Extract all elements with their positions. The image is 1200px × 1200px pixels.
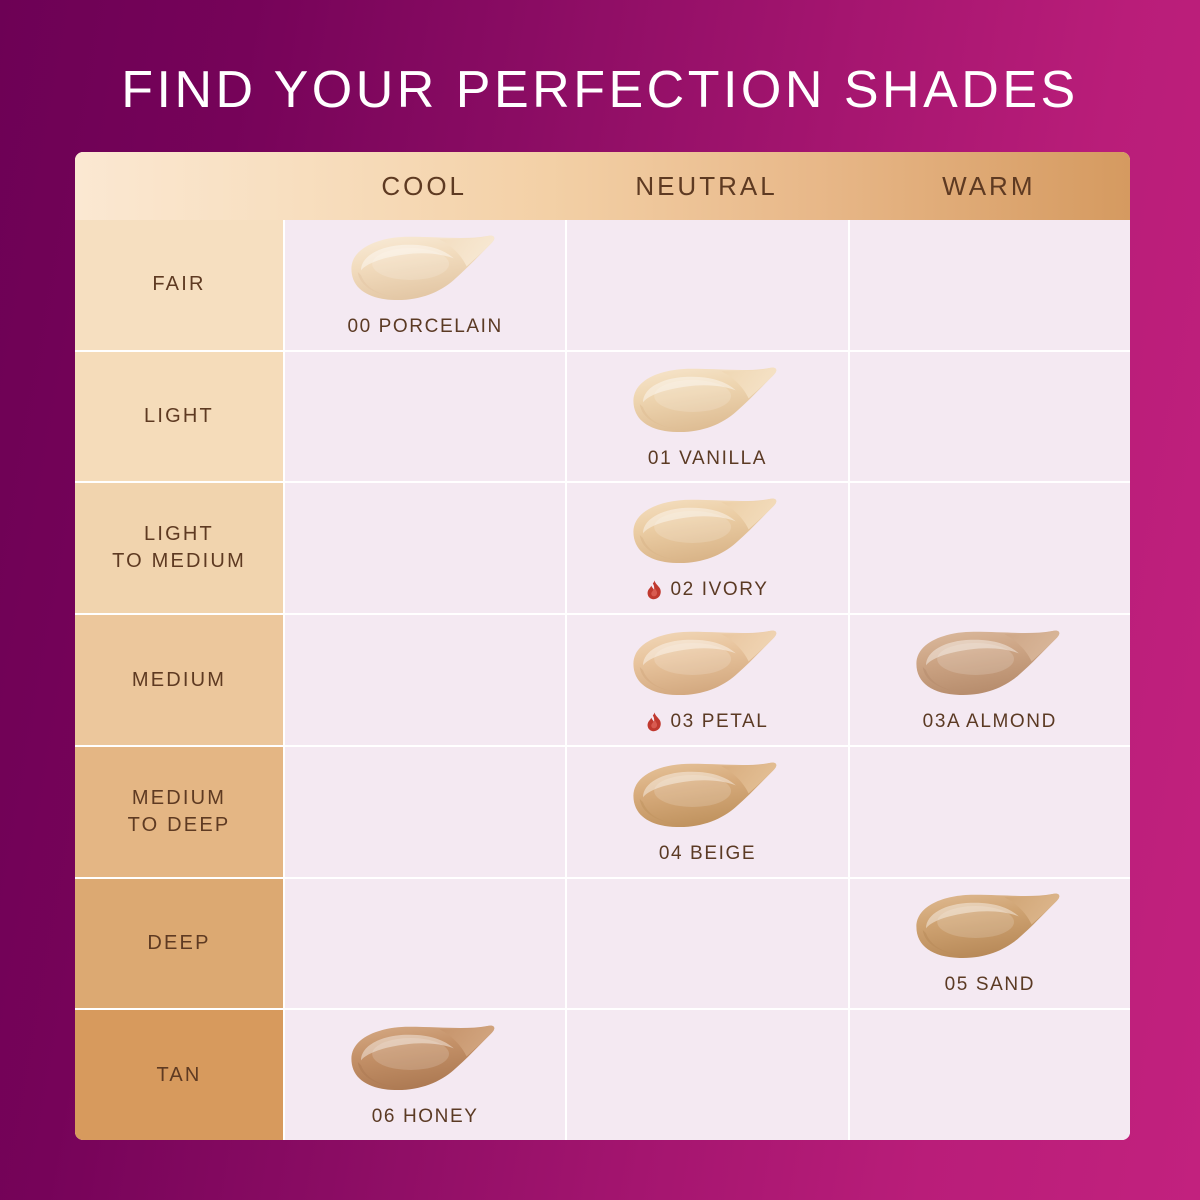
shade-name-label: 04 BEIGE [659, 843, 756, 865]
row-label-light: LIGHT [75, 352, 283, 482]
shade-name-label: 01 VANILLA [648, 448, 767, 470]
empty-cell-medium-cool [283, 615, 565, 745]
shade-name-text: 02 IVORY [670, 579, 768, 601]
shade-swatch-41 [627, 759, 787, 831]
shade-cell-03-petal[interactable]: 03 PETAL [565, 615, 847, 745]
table-row: FAIR 00 PORCELAIN [75, 220, 1130, 350]
shade-name-label: 05 SAND [945, 974, 1035, 996]
shade-swatch-32 [910, 627, 1070, 699]
swatch-group-04-beige: 04 BEIGE [627, 759, 787, 865]
row-label-deep: DEEP [75, 879, 283, 1009]
table-row: LIGHTTO MEDIUM 02 IVORY [75, 481, 1130, 613]
shade-name-label: 06 HONEY [372, 1106, 479, 1128]
flame-icon [646, 580, 663, 601]
shade-name-text: 01 VANILLA [648, 448, 767, 470]
empty-cell-light-to-medium-warm [848, 483, 1130, 613]
swatch-group-03a-almond: 03A ALMOND [910, 627, 1070, 733]
table-row: MEDIUMTO DEEP 04 BEIGE [75, 745, 1130, 877]
shade-cell-01-vanilla[interactable]: 01 VANILLA [565, 352, 847, 482]
empty-cell-light-to-medium-cool [283, 483, 565, 613]
swatch-group-05-sand: 05 SAND [910, 890, 1070, 996]
shade-name-label: 03 PETAL [646, 711, 768, 733]
empty-cell-medium-to-deep-warm [848, 747, 1130, 877]
shade-swatch-60 [345, 1022, 505, 1094]
empty-cell-deep-neutral [565, 879, 847, 1009]
empty-cell-medium-to-deep-cool [283, 747, 565, 877]
shade-cell-05-sand[interactable]: 05 SAND [848, 879, 1130, 1009]
row-cells: 02 IVORY [283, 483, 1130, 613]
swatch-group-03-petal: 03 PETAL [627, 627, 787, 733]
shade-cell-04-beige[interactable]: 04 BEIGE [565, 747, 847, 877]
shade-swatch-11 [627, 364, 787, 436]
row-cells: 03 PETAL 03A ALMOND [283, 615, 1130, 745]
shade-name-text: 00 PORCELAIN [347, 316, 502, 338]
shade-cell-00-porcelain[interactable]: 00 PORCELAIN [283, 220, 565, 350]
row-label-light-to-medium: LIGHTTO MEDIUM [75, 483, 283, 613]
row-cells: 01 VANILLA [283, 352, 1130, 482]
page-title: FIND YOUR PERFECTION SHADES [0, 60, 1200, 120]
shade-swatch-31 [627, 627, 787, 699]
swatch-group-02-ivory: 02 IVORY [627, 495, 787, 601]
table-body: FAIR 00 PORCELAINLIGHT [75, 220, 1130, 1140]
row-cells: 00 PORCELAIN [283, 220, 1130, 350]
row-label-medium-to-deep: MEDIUMTO DEEP [75, 747, 283, 877]
shade-name-text: 03A ALMOND [923, 711, 1057, 733]
shade-swatch-52 [910, 890, 1070, 962]
empty-cell-light-warm [848, 352, 1130, 482]
swatch-group-01-vanilla: 01 VANILLA [627, 364, 787, 470]
shade-name-text: 03 PETAL [670, 711, 768, 733]
table-row: LIGHT 01 VANILLA [75, 350, 1130, 482]
shade-matrix-table: COOL NEUTRAL WARM FAIR 00 PORCELAINLIGHT [75, 152, 1130, 1140]
flame-icon [646, 712, 663, 733]
empty-cell-light-cool [283, 352, 565, 482]
table-row: DEEP 05 SAND [75, 877, 1130, 1009]
shade-name-label: 00 PORCELAIN [347, 316, 502, 338]
shade-name-label: 02 IVORY [646, 579, 768, 601]
column-header-neutral: NEUTRAL [565, 152, 847, 220]
column-header-cool: COOL [283, 152, 565, 220]
row-label-medium: MEDIUM [75, 615, 283, 745]
row-cells: 05 SAND [283, 879, 1130, 1009]
empty-cell-fair-neutral [565, 220, 847, 350]
shade-swatch-21 [627, 495, 787, 567]
row-cells: 04 BEIGE [283, 747, 1130, 877]
row-label-fair: FAIR [75, 220, 283, 350]
shade-name-text: 06 HONEY [372, 1106, 479, 1128]
swatch-group-06-honey: 06 HONEY [345, 1022, 505, 1128]
shade-cell-03a-almond[interactable]: 03A ALMOND [848, 615, 1130, 745]
empty-cell-tan-warm [848, 1010, 1130, 1140]
swatch-group-00-porcelain: 00 PORCELAIN [345, 232, 505, 338]
header-corner-cell [75, 152, 283, 220]
column-header-warm: WARM [848, 152, 1130, 220]
shade-name-label: 03A ALMOND [923, 711, 1057, 733]
empty-cell-deep-cool [283, 879, 565, 1009]
row-cells: 06 HONEY [283, 1010, 1130, 1140]
shade-swatch-00 [345, 232, 505, 304]
shade-cell-02-ivory[interactable]: 02 IVORY [565, 483, 847, 613]
empty-cell-tan-neutral [565, 1010, 847, 1140]
shade-name-text: 05 SAND [945, 974, 1035, 996]
row-label-tan: TAN [75, 1010, 283, 1140]
shade-cell-06-honey[interactable]: 06 HONEY [283, 1010, 565, 1140]
empty-cell-fair-warm [848, 220, 1130, 350]
table-row: TAN 06 HONEY [75, 1008, 1130, 1140]
shade-finder-poster: FIND YOUR PERFECTION SHADES COOL NEUTRAL… [0, 0, 1200, 1200]
table-header-row: COOL NEUTRAL WARM [75, 152, 1130, 220]
shade-name-text: 04 BEIGE [659, 843, 756, 865]
table-row: MEDIUM 03 PETAL [75, 613, 1130, 745]
